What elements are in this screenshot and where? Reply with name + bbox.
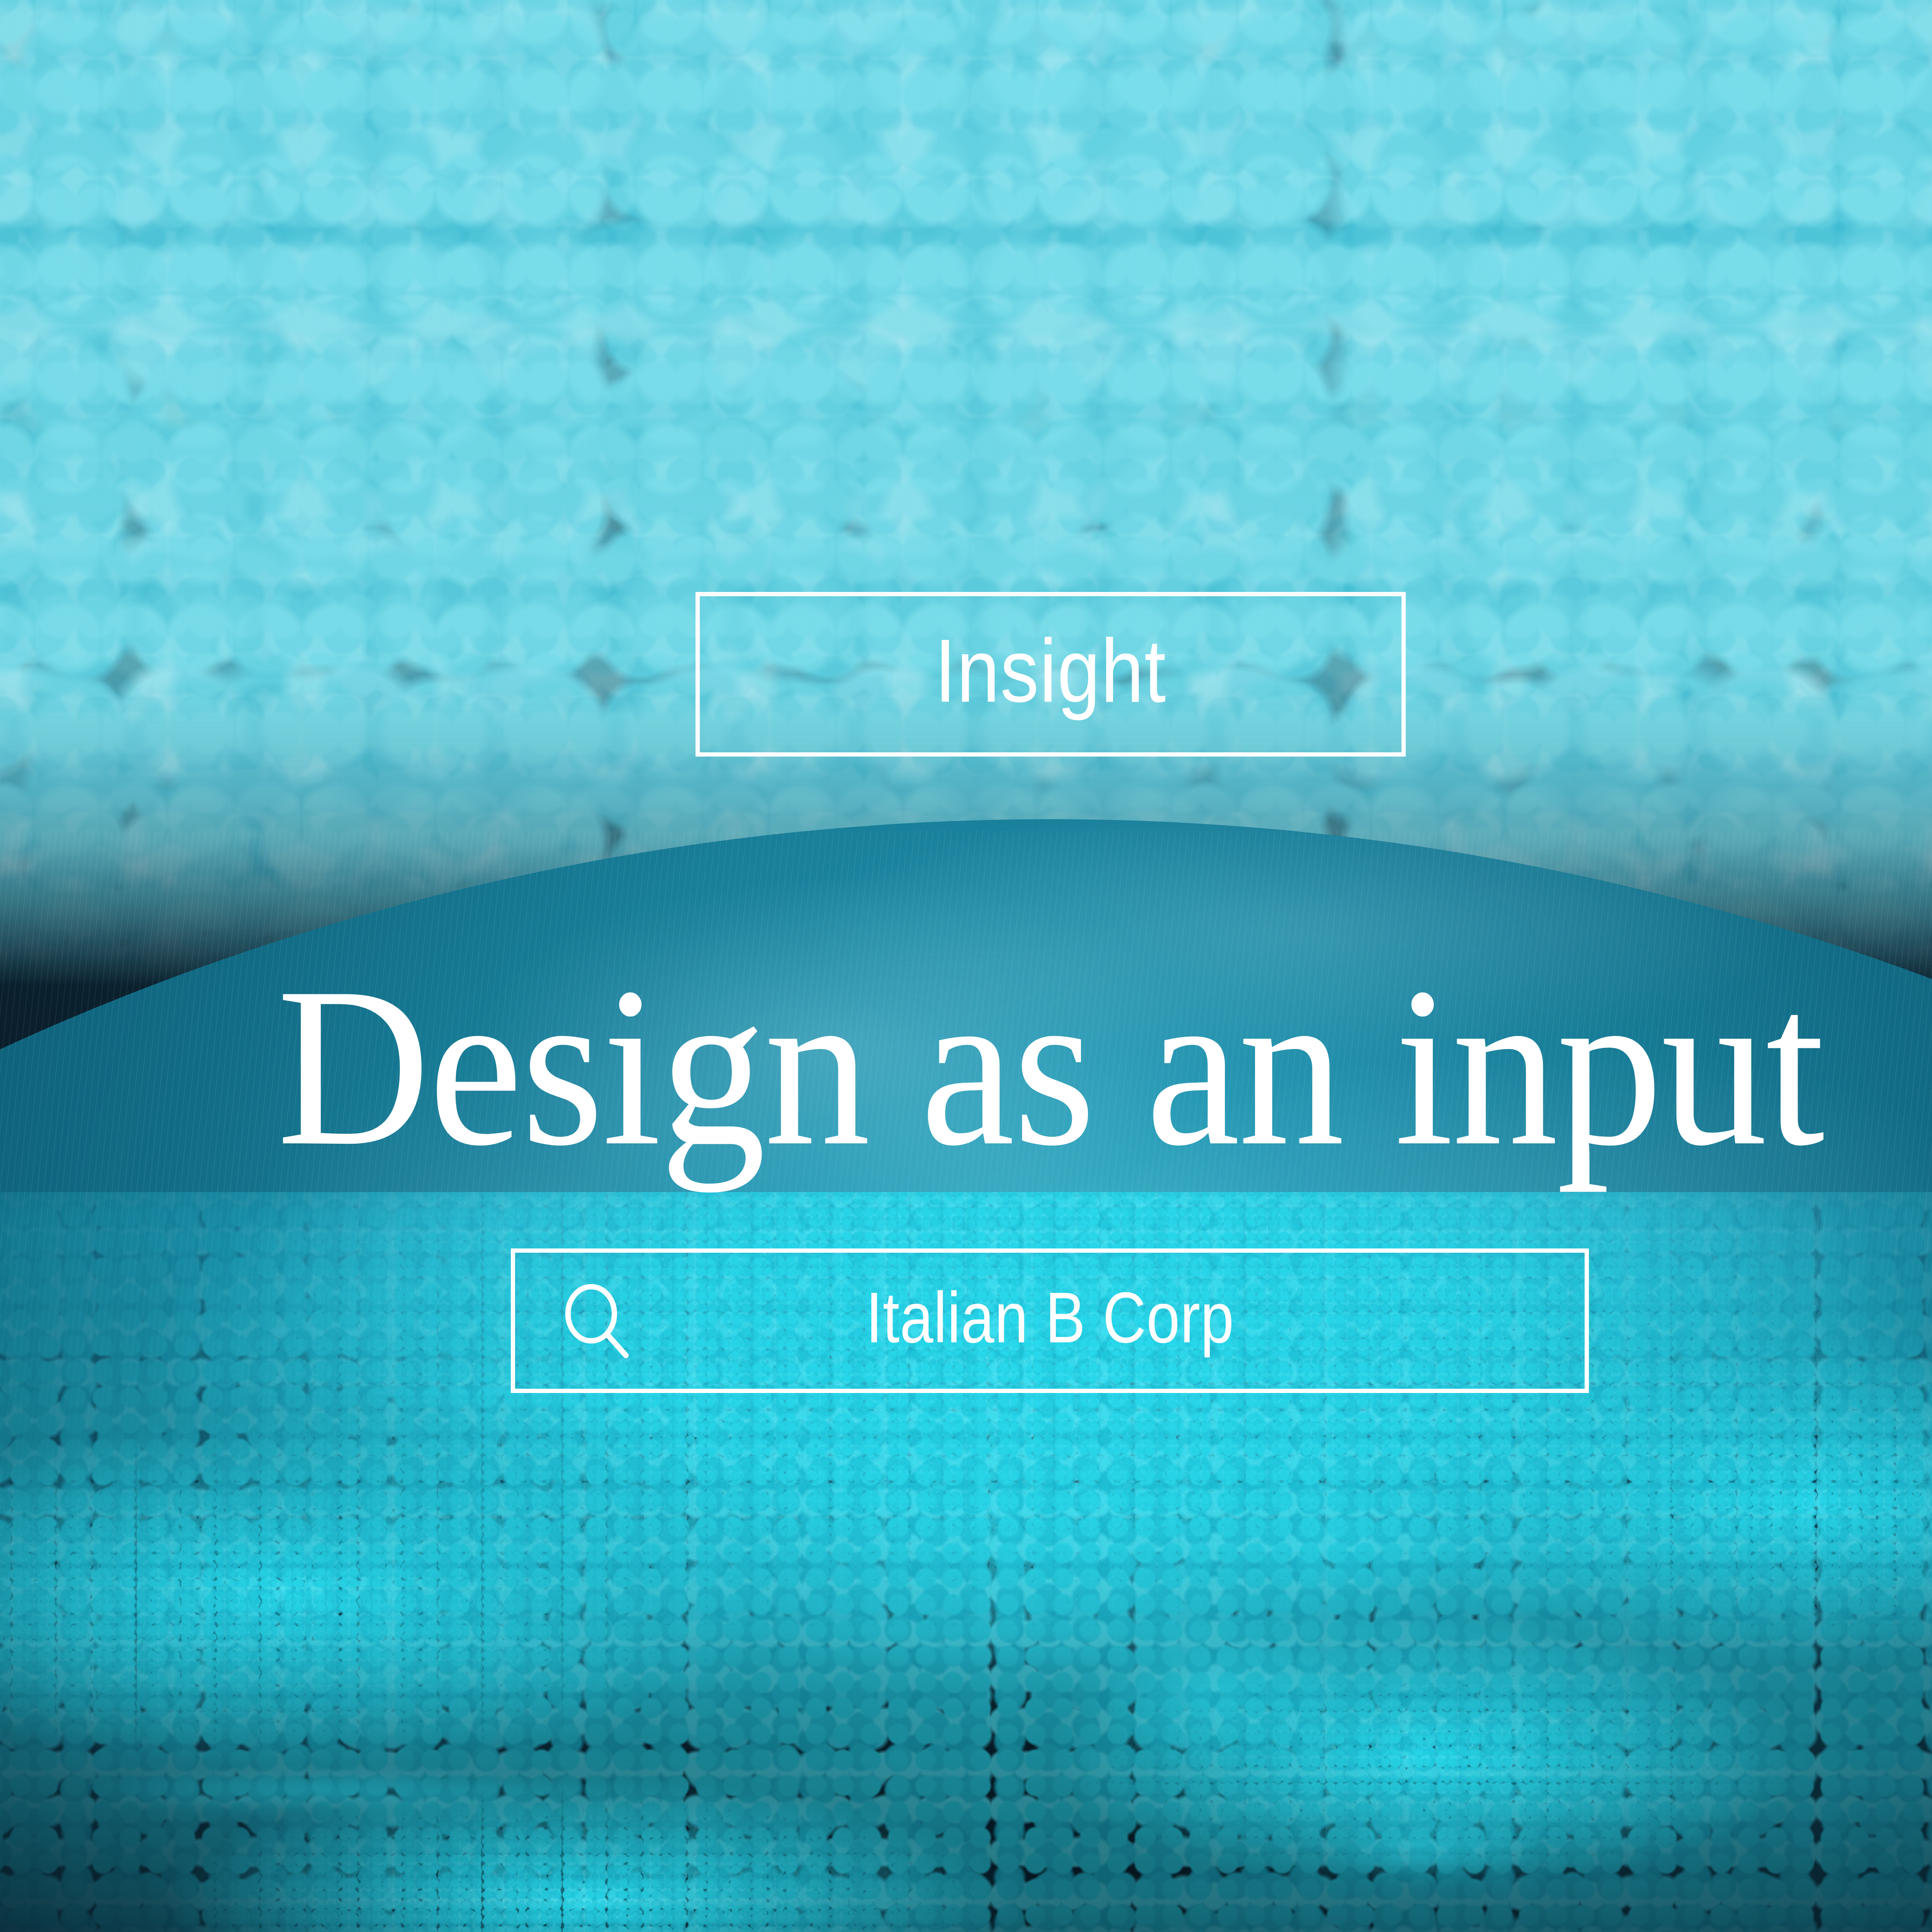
insight-badge: Insight — [696, 592, 1406, 757]
page-title-text: Design as an input — [277, 952, 1823, 1180]
insight-badge-label: Insight — [935, 626, 1167, 723]
hero-poster: Insight Design as an input Italian B Cor… — [0, 0, 1932, 1932]
search-input-value[interactable]: Italian B Corp — [515, 1282, 1585, 1354]
page-title: Design as an input — [0, 952, 1932, 1180]
search-bar[interactable]: Italian B Corp — [511, 1248, 1589, 1393]
